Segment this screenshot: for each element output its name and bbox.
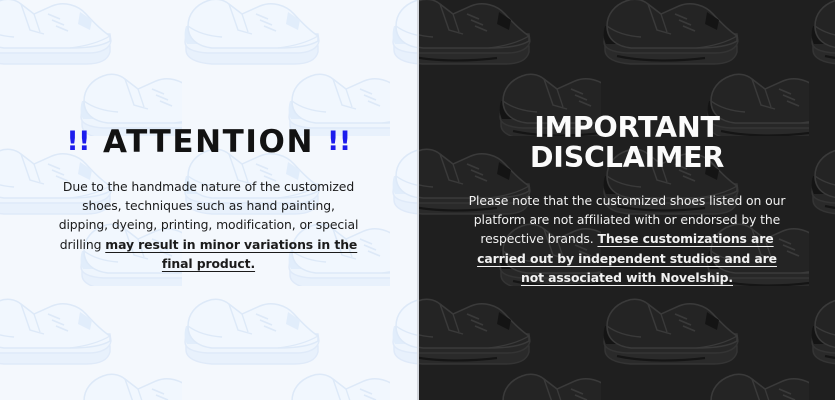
attention-content: !! ATTENTION !! Due to the handmade natu… bbox=[0, 127, 417, 273]
disclaimer-heading-line-1: IMPORTANT bbox=[534, 111, 720, 144]
double-exclamation-left-icon: !! bbox=[66, 128, 90, 155]
attention-body-text: Due to the handmade nature of the custom… bbox=[58, 177, 360, 273]
attention-body-emphasis: may result in minor variations in the fi… bbox=[105, 237, 357, 271]
attention-panel: !! ATTENTION !! Due to the handmade natu… bbox=[0, 0, 417, 400]
panel-divider bbox=[417, 0, 419, 400]
attention-heading: !! ATTENTION !! bbox=[16, 127, 401, 158]
disclaimer-panel: IMPORTANT DISCLAIMER Please note that th… bbox=[419, 0, 835, 400]
attention-heading-text: ATTENTION bbox=[103, 127, 314, 158]
disclaimer-banner: !! ATTENTION !! Due to the handmade natu… bbox=[0, 0, 835, 400]
disclaimer-body-text: Please note that the customized shoes li… bbox=[466, 191, 788, 288]
double-exclamation-right-icon: !! bbox=[327, 128, 351, 155]
disclaimer-content: IMPORTANT DISCLAIMER Please note that th… bbox=[419, 113, 835, 288]
disclaimer-heading-line-2: DISCLAIMER bbox=[530, 141, 724, 174]
disclaimer-heading: IMPORTANT DISCLAIMER bbox=[435, 113, 819, 174]
